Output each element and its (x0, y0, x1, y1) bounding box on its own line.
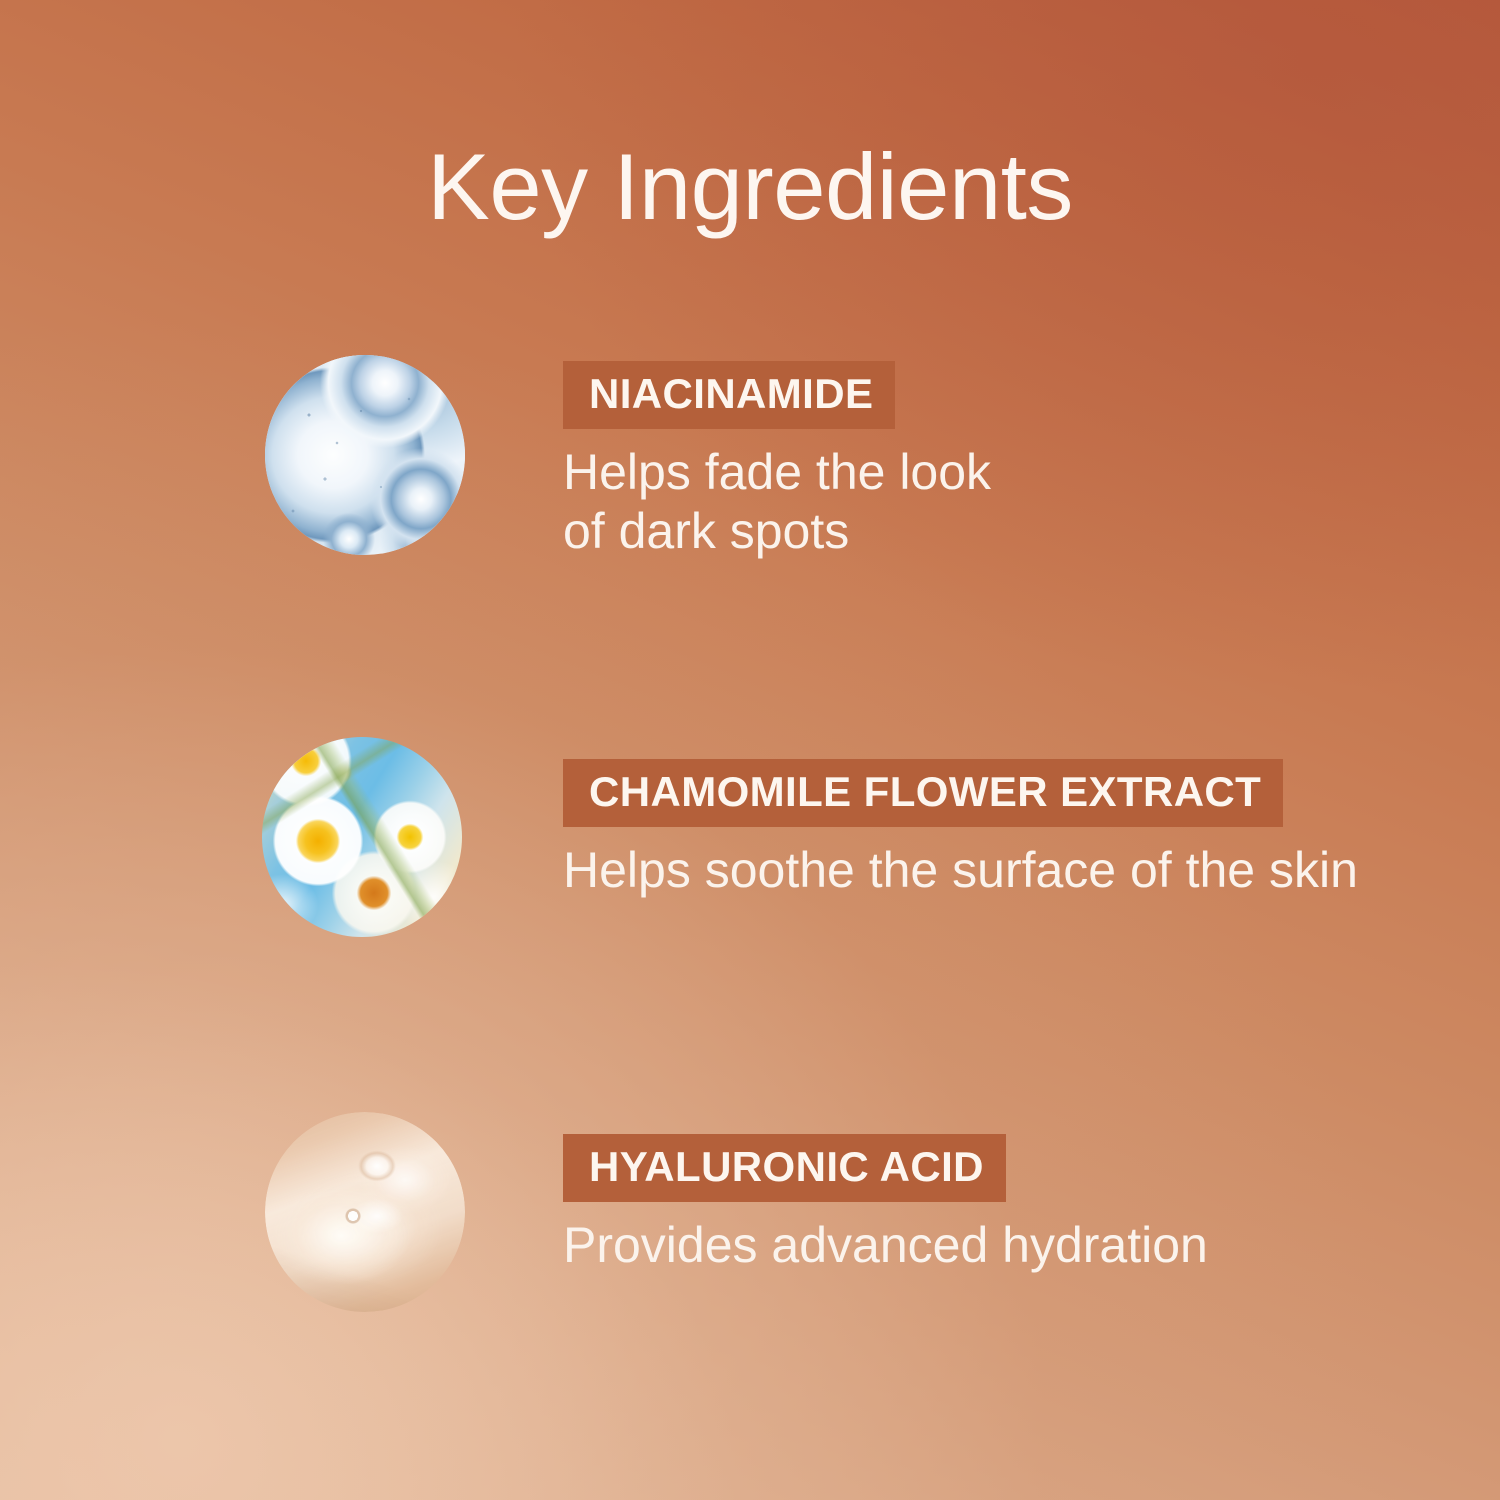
ingredient-name-badge: HYALURONIC ACID (563, 1134, 1006, 1202)
chamomile-flowers-icon (262, 737, 462, 937)
ingredient-text-niacinamide: NIACINAMIDE Helps fade the look of dark … (563, 361, 991, 561)
ingredient-name-badge: CHAMOMILE FLOWER EXTRACT (563, 759, 1283, 827)
water-bubbles-icon (265, 355, 465, 555)
key-ingredients-infographic: Key Ingredients NIACINAMIDE Helps fade t… (0, 0, 1500, 1500)
ingredient-description: Helps soothe the surface of the skin (563, 841, 1358, 900)
ingredient-description: Helps fade the look of dark spots (563, 443, 991, 561)
gel-droplet-icon (265, 1112, 465, 1312)
ingredient-image-hyaluronic-acid (265, 1112, 465, 1312)
page-title: Key Ingredients (0, 140, 1500, 234)
ingredient-text-chamomile-flower-extract: CHAMOMILE FLOWER EXTRACT Helps soothe th… (563, 759, 1358, 900)
ingredient-image-chamomile-flower-extract (262, 737, 462, 937)
ingredient-text-hyaluronic-acid: HYALURONIC ACID Provides advanced hydrat… (563, 1134, 1208, 1275)
ingredient-image-niacinamide (265, 355, 465, 555)
ingredient-name-badge: NIACINAMIDE (563, 361, 895, 429)
ingredient-description: Provides advanced hydration (563, 1216, 1208, 1275)
